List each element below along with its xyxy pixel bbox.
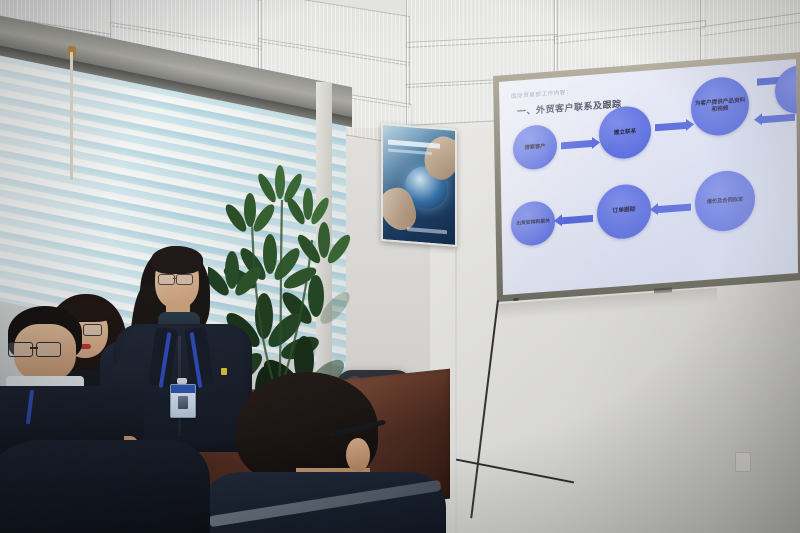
display-screen[interactable]: 国际贸易部工作内容： 一、外贸客户联系及跟踪 搜索客户 建立联系 为客户提供产品… <box>491 52 800 302</box>
wall-power-outlet[interactable] <box>735 452 751 472</box>
eyeglasses-bridge <box>173 278 177 279</box>
eyeglasses-lens-right <box>36 342 61 357</box>
meeting-room-photo: 国际贸易部工作内容： 一、外贸客户联系及跟踪 搜索客户 建立联系 为客户提供产品… <box>0 0 800 533</box>
framed-wall-poster <box>381 123 457 247</box>
eyeglasses-lens-right <box>176 274 193 285</box>
ear <box>346 438 370 472</box>
blind-pull-cord[interactable] <box>70 52 73 180</box>
attendee-front-left <box>0 306 120 456</box>
attendee-foreground <box>178 372 438 533</box>
wall-mounted-display[interactable]: 国际贸易部工作内容： 一、外贸客户联系及跟踪 搜索客户 建立联系 为客户提供产品… <box>491 52 800 302</box>
eyeglasses-lens-left <box>8 342 33 357</box>
torso <box>0 440 210 533</box>
eyeglasses-lens-left <box>158 274 175 285</box>
screen-glare <box>491 52 800 302</box>
fringe <box>151 246 203 274</box>
display-ir-sensor <box>513 298 519 301</box>
poster-glass-reflection <box>383 125 455 245</box>
eyeglasses-bridge <box>30 347 38 349</box>
attendee-bottom-left <box>0 440 210 533</box>
